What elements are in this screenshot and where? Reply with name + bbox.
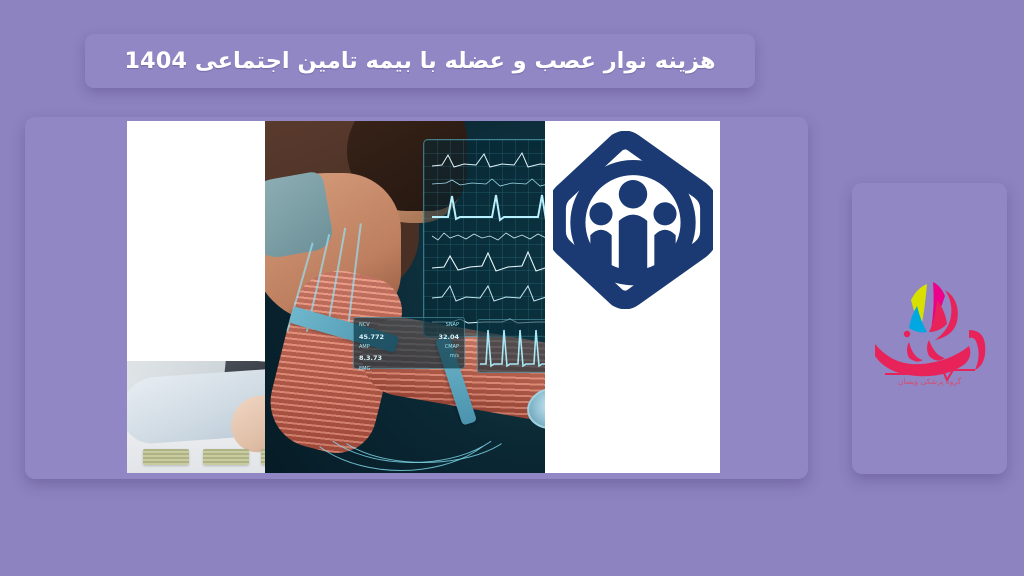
readout-footer: EMG bbox=[359, 365, 370, 375]
readout-label: NCV bbox=[359, 321, 370, 331]
axis-tick: 10 bbox=[423, 289, 424, 294]
poster-canvas: هزینه نوار عصب و عضله با بیمه تامین اجتم… bbox=[0, 0, 1024, 576]
readout-label: AMP bbox=[359, 343, 370, 353]
social-security-logo-mark bbox=[553, 131, 713, 309]
image-collage: 50 40 30 20 10 00 bbox=[127, 121, 720, 473]
readout-label: SNAP bbox=[446, 321, 459, 331]
axis-tick: 50 bbox=[423, 152, 424, 157]
visan-logo-mark bbox=[865, 270, 995, 388]
visan-medical-group-logo: گروه پزشکی ویسان bbox=[865, 270, 995, 388]
cash-stack bbox=[203, 449, 249, 465]
social-security-organization-logo bbox=[545, 121, 720, 473]
brand-sidebar-card: گروه پزشکی ویسان bbox=[852, 183, 1007, 474]
readout-value: 8.3.73 bbox=[359, 352, 382, 364]
readout-value: 45.772 bbox=[359, 331, 384, 343]
brand-subtitle: گروه پزشکی ویسان bbox=[865, 377, 995, 386]
readout-unit: m/s bbox=[450, 352, 459, 364]
axis-tick: 40 bbox=[423, 186, 424, 191]
readout-label: CMAP bbox=[445, 343, 459, 353]
monitor-axis-ticks: 50 40 30 20 10 00 bbox=[423, 152, 424, 328]
readout-value: 32.04 bbox=[438, 331, 459, 343]
emg-readout-panel: NCV SNAP 45.772 32.04 AMP CMAP 8.3.73 m/… bbox=[353, 317, 465, 369]
axis-tick: 20 bbox=[423, 255, 424, 260]
main-content-panel: 50 40 30 20 10 00 bbox=[25, 117, 808, 479]
axis-tick: 30 bbox=[423, 220, 424, 225]
collage-white-block bbox=[127, 121, 265, 361]
cash-stack bbox=[143, 449, 189, 465]
page-title: هزینه نوار عصب و عضله با بیمه تامین اجتم… bbox=[124, 48, 715, 74]
title-card: هزینه نوار عصب و عضله با بیمه تامین اجتم… bbox=[85, 34, 755, 88]
